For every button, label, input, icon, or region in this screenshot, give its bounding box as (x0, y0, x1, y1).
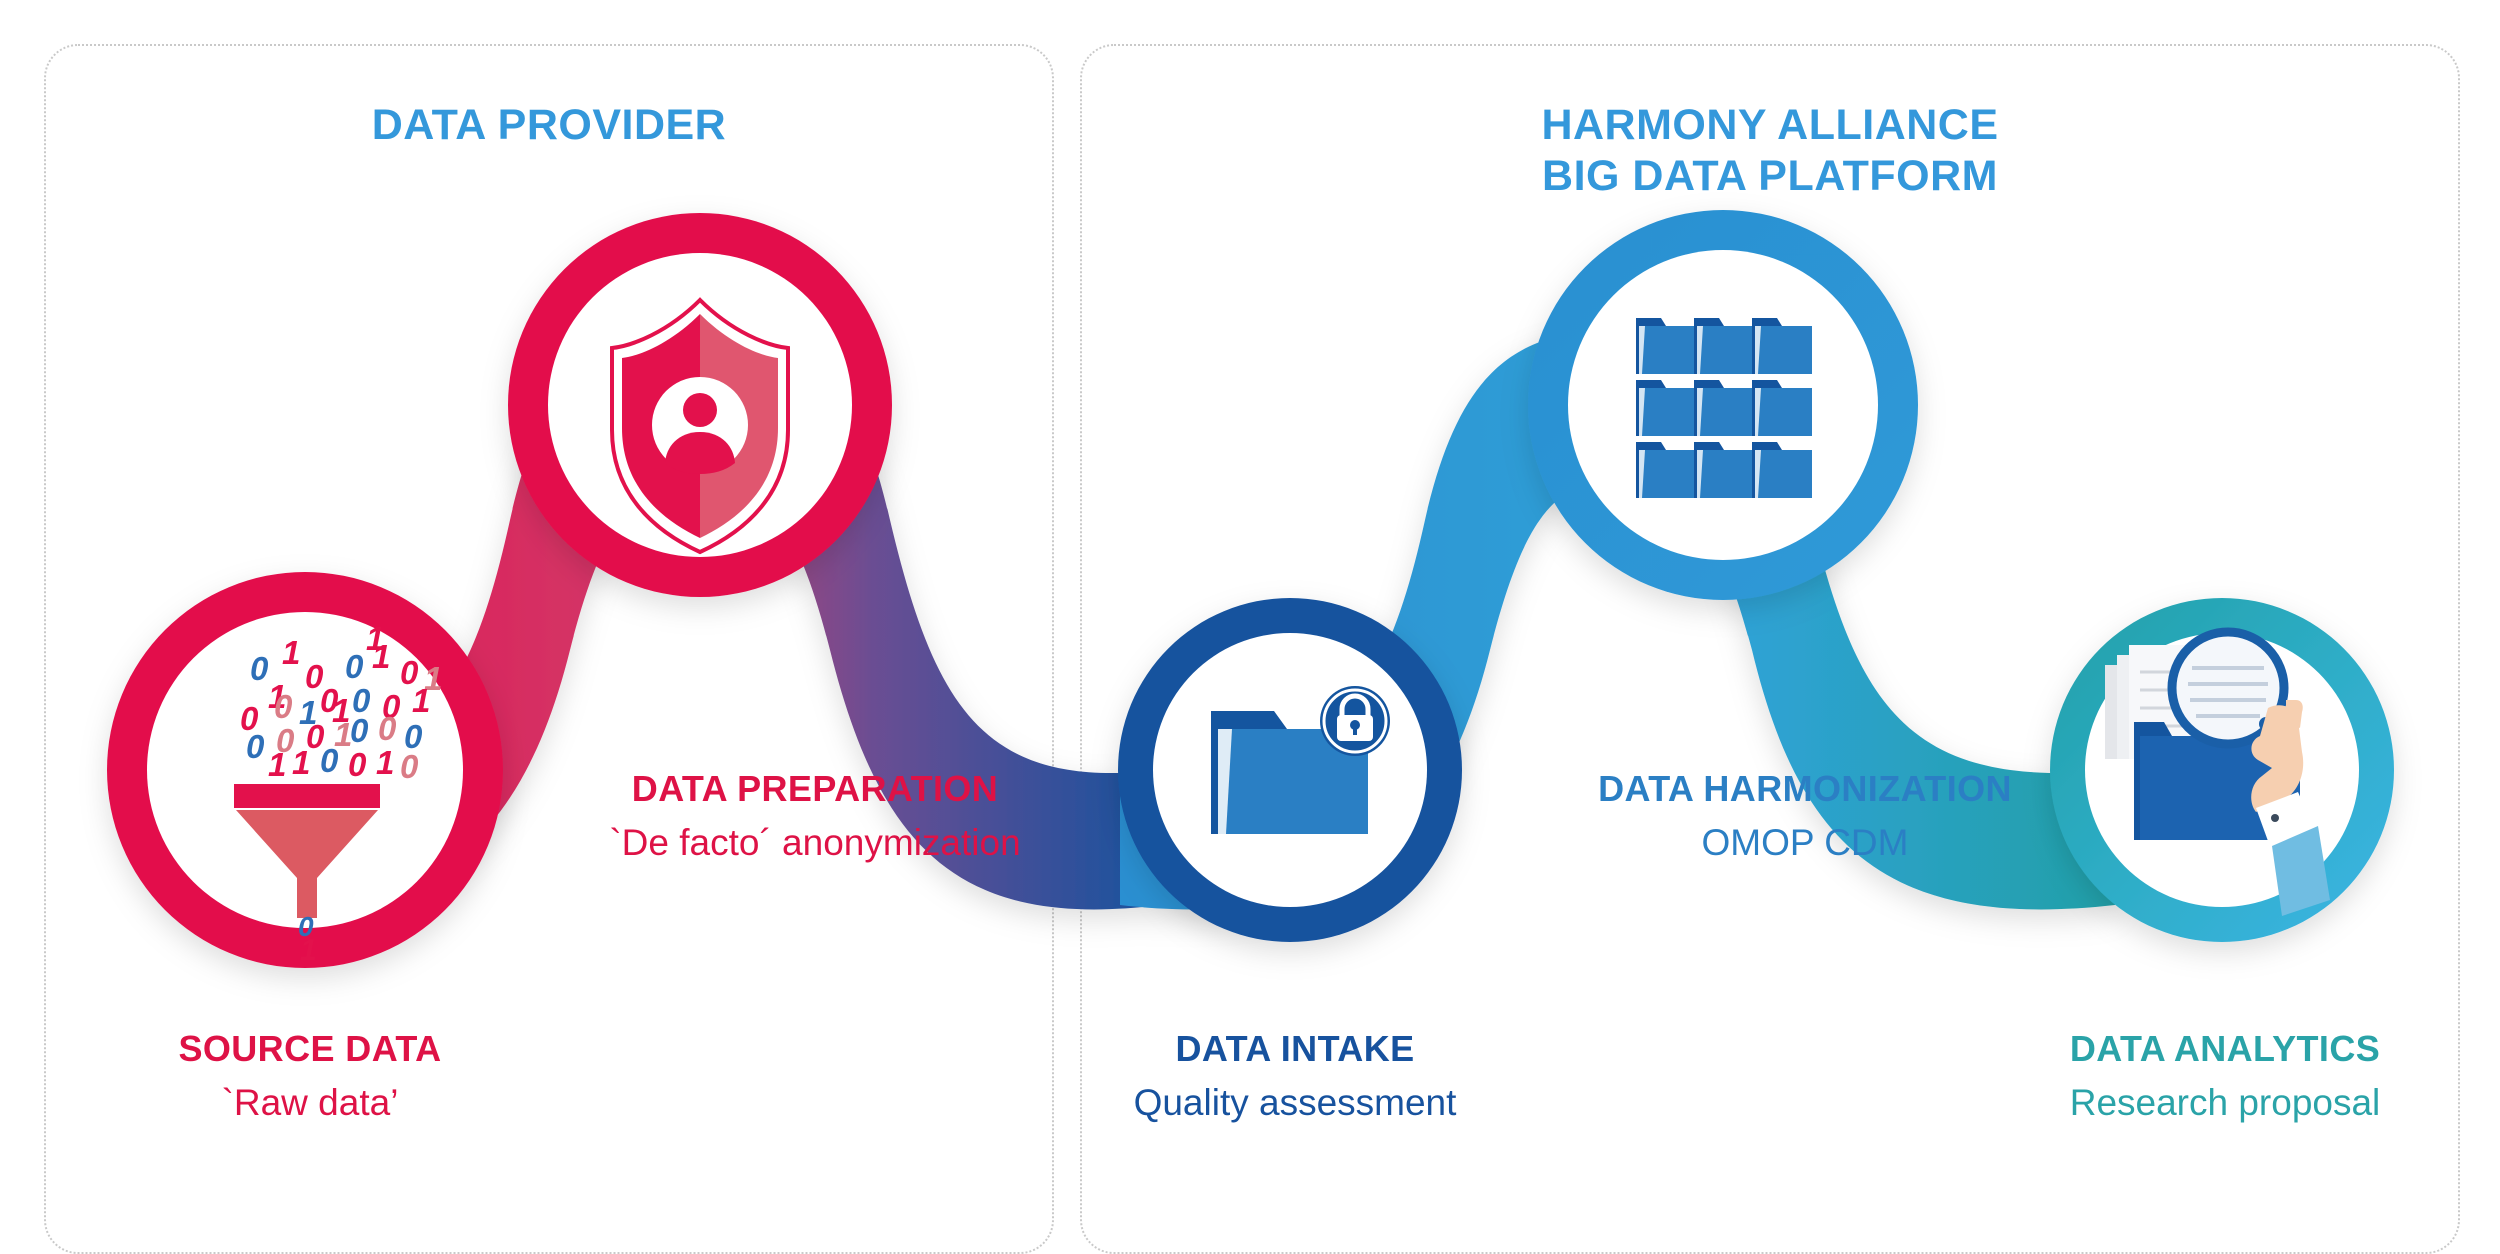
label-data-intake: DATA INTAKE Quality assessment (995, 1030, 1595, 1123)
svg-text:1: 1 (268, 746, 286, 783)
data-intake-title: DATA INTAKE (995, 1030, 1595, 1068)
source-data-subtitle: `Raw data’ (30, 1084, 590, 1123)
svg-text:1: 1 (366, 620, 384, 657)
svg-text:1: 1 (300, 934, 317, 967)
svg-text:0: 0 (246, 728, 265, 765)
svg-text:0: 0 (274, 688, 293, 725)
data-harmonization-subtitle: OMOP CDM (1325, 824, 2285, 863)
label-data-harmonization: DATA HARMONIZATION OMOP CDM (1325, 770, 2285, 863)
diagram-canvas: DATA PROVIDER HARMONY ALLIANCE BIG DATA … (0, 0, 2500, 1203)
node-data-preparation[interactable] (508, 213, 892, 597)
svg-text:1: 1 (412, 682, 430, 719)
svg-text:0: 0 (320, 742, 339, 779)
folder-grid-icon (1636, 318, 1812, 498)
data-preparation-subtitle: `De facto´ anonymization (345, 824, 1285, 863)
node-data-harmonization[interactable] (1528, 210, 1918, 600)
svg-text:1: 1 (282, 634, 300, 671)
svg-text:0: 0 (250, 650, 269, 687)
data-intake-subtitle: Quality assessment (995, 1084, 1595, 1123)
data-analytics-title: DATA ANALYTICS (1945, 1030, 2500, 1068)
svg-text:0: 0 (350, 712, 369, 749)
data-analytics-subtitle: Research proposal (1945, 1084, 2500, 1123)
svg-text:1: 1 (292, 744, 310, 781)
label-source-data: SOURCE DATA `Raw data’ (30, 1030, 590, 1123)
svg-text:0: 0 (345, 648, 364, 685)
process-flow-graphic: 0 1 0 0 1 1 0 1 1 0 1 1 0 0 1 0 0 (0, 0, 2500, 1203)
label-data-analytics: DATA ANALYTICS Research proposal (1945, 1030, 2500, 1123)
source-data-title: SOURCE DATA (30, 1030, 590, 1068)
svg-text:0: 0 (378, 710, 397, 747)
data-preparation-title: DATA PREPARATION (345, 770, 1285, 808)
data-harmonization-title: DATA HARMONIZATION (1325, 770, 2285, 808)
label-data-preparation: DATA PREPARATION `De facto´ anonymizatio… (345, 770, 1285, 863)
